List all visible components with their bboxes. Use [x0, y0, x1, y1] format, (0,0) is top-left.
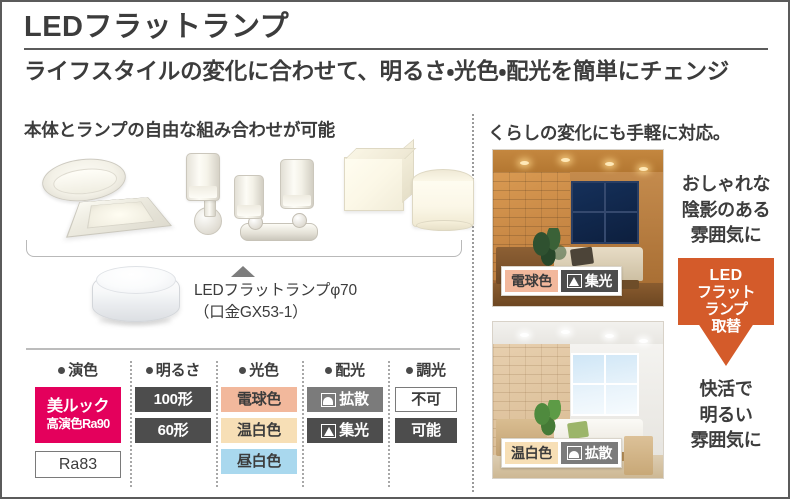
header: LEDフラットランプ ライフスタイルの変化に合わせて、明るさ・光色・配光を簡単に…: [24, 10, 772, 85]
bright-room-caption: 快活で 明るい 雰囲気に: [674, 377, 778, 454]
spec-column-title: 明るさ: [146, 359, 200, 380]
spec-column-title: 配光: [325, 359, 365, 380]
warm-caption-line2: 陰影のある: [674, 198, 778, 224]
bullet-dot-icon: [325, 367, 332, 374]
spec-table: 演色 美ルック 高演色Ra90 Ra83 明るさ 100形 60形 光色 電球色…: [26, 359, 464, 491]
bright-caption-line2: 明るい: [674, 403, 778, 429]
photo-top-distribution-badge[interactable]: 集光: [561, 270, 618, 292]
spec-column-color-rendering: 演色 美ルック 高演色Ra90 Ra83: [26, 359, 130, 491]
arrow-line4: 取替: [711, 319, 740, 336]
infographic-page: LEDフラットランプ ライフスタイルの変化に合わせて、明るさ・光色・配光を簡単に…: [0, 0, 790, 499]
light-color-warmwhite-badge[interactable]: 温白色: [221, 418, 297, 443]
downlight-spot-icon: [520, 161, 529, 165]
single-spotlight-head-icon: [186, 153, 220, 201]
title-underline: [24, 48, 768, 50]
day-window: [571, 353, 639, 415]
arrow-line3: ランプ: [704, 302, 747, 319]
distribution-spot-label: 集光: [339, 423, 368, 438]
spec-column-title: 調光: [406, 359, 446, 380]
spec-column-title: 光色: [239, 359, 279, 380]
photo-bright-room: 温白色 拡散: [492, 321, 664, 479]
downlight-spot-icon: [561, 158, 570, 162]
twin-spotlight-head-right-icon: [280, 159, 314, 209]
warm-caption-line1: おしゃれな: [674, 172, 778, 198]
light-color-daywhite-badge[interactable]: 昼白色: [221, 449, 297, 474]
round-downlight-icon: [40, 155, 128, 206]
photo-bottom-badges: 温白色 拡散: [501, 438, 622, 468]
lamp-diffuser-top: [96, 266, 176, 294]
light-color-bulb-badge[interactable]: 電球色: [221, 387, 297, 412]
bright-caption-line3: 雰囲気に: [674, 428, 778, 454]
photo-warm-room: 電球色 集光: [492, 149, 664, 307]
cushion: [567, 421, 589, 439]
brightness-100-badge[interactable]: 100形: [135, 387, 211, 412]
square-bracket-light-icon: [412, 177, 474, 227]
lamp-caption-line2: （口金GX53-1）: [194, 302, 357, 324]
diffuse-dome-icon: [567, 446, 582, 460]
lamp-caption: LEDフラットランプφ70 （口金GX53-1）: [194, 280, 357, 325]
twin-spotlight-head-left-icon: [234, 175, 264, 219]
brightness-60-badge[interactable]: 60形: [135, 418, 211, 443]
distribution-diffuse-label: 拡散: [339, 392, 368, 407]
spec-column-light-distribution: 配光 拡散 集光: [302, 359, 388, 491]
left-section: 本体とランプの自由な組み合わせが可能: [24, 120, 464, 141]
section-divider: [472, 114, 474, 492]
downlight-spot-icon: [520, 333, 529, 337]
dimming-available-badge[interactable]: 可能: [395, 418, 457, 443]
arrow-line1: LED: [710, 267, 743, 285]
warm-room-caption: おしゃれな 陰影のある 雰囲気に: [674, 172, 778, 249]
photo-top-color-badge[interactable]: 電球色: [505, 270, 558, 292]
diffuse-dome-icon: [321, 393, 336, 407]
distribution-spot-badge[interactable]: 集光: [307, 418, 383, 443]
warm-caption-line3: 雰囲気に: [674, 223, 778, 249]
page-title: LEDフラットランプ: [24, 10, 772, 46]
spec-column-title: 演色: [58, 359, 98, 380]
bullet-dot-icon: [239, 367, 246, 374]
bi-look-badge[interactable]: 美ルック 高演色Ra90: [35, 387, 121, 443]
twin-spotlight-knob-right-icon: [292, 213, 307, 228]
arrow-line2: フラット: [697, 285, 755, 302]
page-subtitle: ライフスタイルの変化に合わせて、明るさ・光色・配光を簡単にチェンジ: [24, 58, 772, 85]
photo-bottom-distribution-label: 拡散: [585, 446, 612, 460]
chair: [624, 436, 653, 475]
led-flat-lamp-illustration: [92, 264, 180, 330]
bi-look-label-sub: 高演色Ra90: [46, 418, 109, 431]
photo-top-distribution-label: 集光: [585, 274, 612, 288]
photo-bottom-distribution-badge[interactable]: 拡散: [561, 442, 618, 464]
bullet-dot-icon: [406, 367, 413, 374]
photo-top-badges: 電球色 集光: [501, 266, 622, 296]
spec-column-brightness: 明るさ 100形 60形: [130, 359, 216, 491]
fixtures-brace: [26, 240, 462, 257]
spot-triangle-icon: [567, 274, 582, 288]
bi-look-label-main: 美ルック: [47, 399, 109, 416]
spot-triangle-icon: [321, 424, 336, 438]
bullet-dot-icon: [58, 367, 65, 374]
square-downlight-icon: [66, 197, 172, 238]
photo-bottom-color-badge[interactable]: 温白色: [505, 442, 558, 464]
bright-caption-line1: 快活で: [674, 377, 778, 403]
ra83-badge[interactable]: Ra83: [35, 451, 121, 478]
downlight-spot-icon: [561, 330, 570, 334]
spec-column-light-color: 光色 電球色 温白色 昼白色: [216, 359, 302, 491]
dimming-unavailable-badge[interactable]: 不可: [395, 387, 457, 412]
lamp-replace-arrow: LED フラット ランプ 取替: [678, 258, 774, 366]
bullet-dot-icon: [146, 367, 153, 374]
left-section-heading: 本体とランプの自由な組み合わせが可能: [24, 120, 464, 141]
cube-bracket-light-icon: [344, 157, 404, 211]
night-window: [571, 181, 639, 243]
spec-column-dimming: 調光 不可 可能: [388, 359, 464, 491]
left-horizontal-rule: [26, 348, 460, 350]
distribution-diffuse-badge[interactable]: 拡散: [307, 387, 383, 412]
right-section-heading: くらしの変化にも手軽に対応。: [488, 120, 730, 145]
lamp-caption-line1: LEDフラットランプφ70: [194, 280, 357, 302]
brace-arrow-icon: [231, 266, 255, 277]
